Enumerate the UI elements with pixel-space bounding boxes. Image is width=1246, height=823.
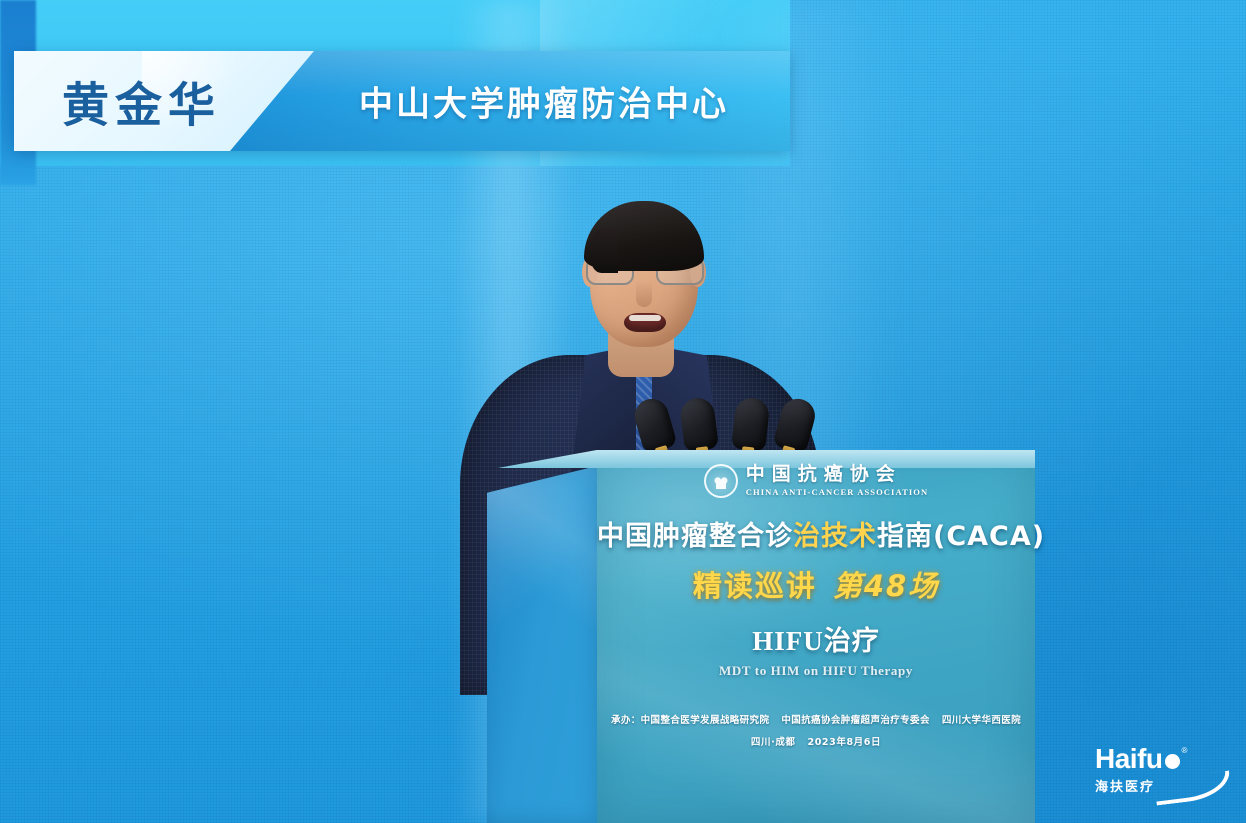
podium-side-sheen [487,464,605,823]
event-location: 四川·成都 [751,737,796,748]
location-date-line: 四川·成都2023年8月6日 [597,734,1035,748]
speaker-name-text: 黄金华 [62,67,221,136]
speaker-name-banner: 黄金华 中山大学肿瘤防治中心 [14,51,790,151]
association-name-en: CHINA ANTI-CANCER ASSOCIATION [746,487,928,497]
topic-title-en: MDT to HIM on HIFU Therapy [597,663,1035,679]
podium-sign: 中国抗癌协会 CHINA ANTI-CANCER ASSOCIATION 中国肿… [597,450,1035,823]
haifu-dot-icon [1165,754,1180,769]
haifu-registered-mark: ® [1182,746,1188,755]
haifu-brand-en: Haifu [1095,745,1163,773]
session-label: 第48场 [833,569,939,603]
mic-windscreen [679,396,719,452]
speaker-mouth [624,313,666,332]
event-date: 2023年8月6日 [808,737,882,748]
association-lockup: 中国抗癌协会 CHINA ANTI-CANCER ASSOCIATION [597,464,1035,498]
series-line: 精读巡讲第48场 [597,563,1035,605]
topic-title-cn: HIFU治疗 [597,619,1035,658]
association-name-cn: 中国抗癌协会 [746,465,928,485]
guideline-title-highlight: 治技术 [793,521,877,552]
speaker-affiliation-text: 中山大学肿瘤防治中心 [359,77,729,126]
hosts-prefix: 承办： [611,715,641,726]
speaker-hair [584,201,704,271]
hosts-line: 承办：中国整合医学发展战略研究院中国抗癌协会肿瘤超声治疗专委会四川大学华西医院 [597,712,1035,726]
host-organizer-3: 四川大学华西医院 [942,715,1021,726]
host-organizer-1: 中国整合医学发展战略研究院 [641,715,770,726]
guideline-title-part2: 指南(CACA) [877,521,1045,552]
haifu-wordmark-row: Haifu ® [1095,745,1235,773]
association-emblem-icon [704,464,738,498]
guideline-title-part1: 中国肿瘤整合诊 [597,521,793,552]
conference-photo-stage: 黄金华 中山大学肿瘤防治中心 [0,0,1246,823]
haifu-watermark-logo: Haifu ® 海扶医疗 [1095,745,1235,803]
speaker-nose [636,281,652,307]
host-organizer-2: 中国抗癌协会肿瘤超声治疗专委会 [781,715,930,726]
mic-windscreen [731,396,770,451]
podium-side-panel [487,464,605,823]
guideline-title: 中国肿瘤整合诊治技术指南(CACA) [597,514,1035,553]
series-label: 精读巡讲 [693,569,817,603]
podium: 中国抗癌协会 CHINA ANTI-CANCER ASSOCIATION 中国肿… [487,450,1035,823]
association-text-block: 中国抗癌协会 CHINA ANTI-CANCER ASSOCIATION [746,465,928,497]
